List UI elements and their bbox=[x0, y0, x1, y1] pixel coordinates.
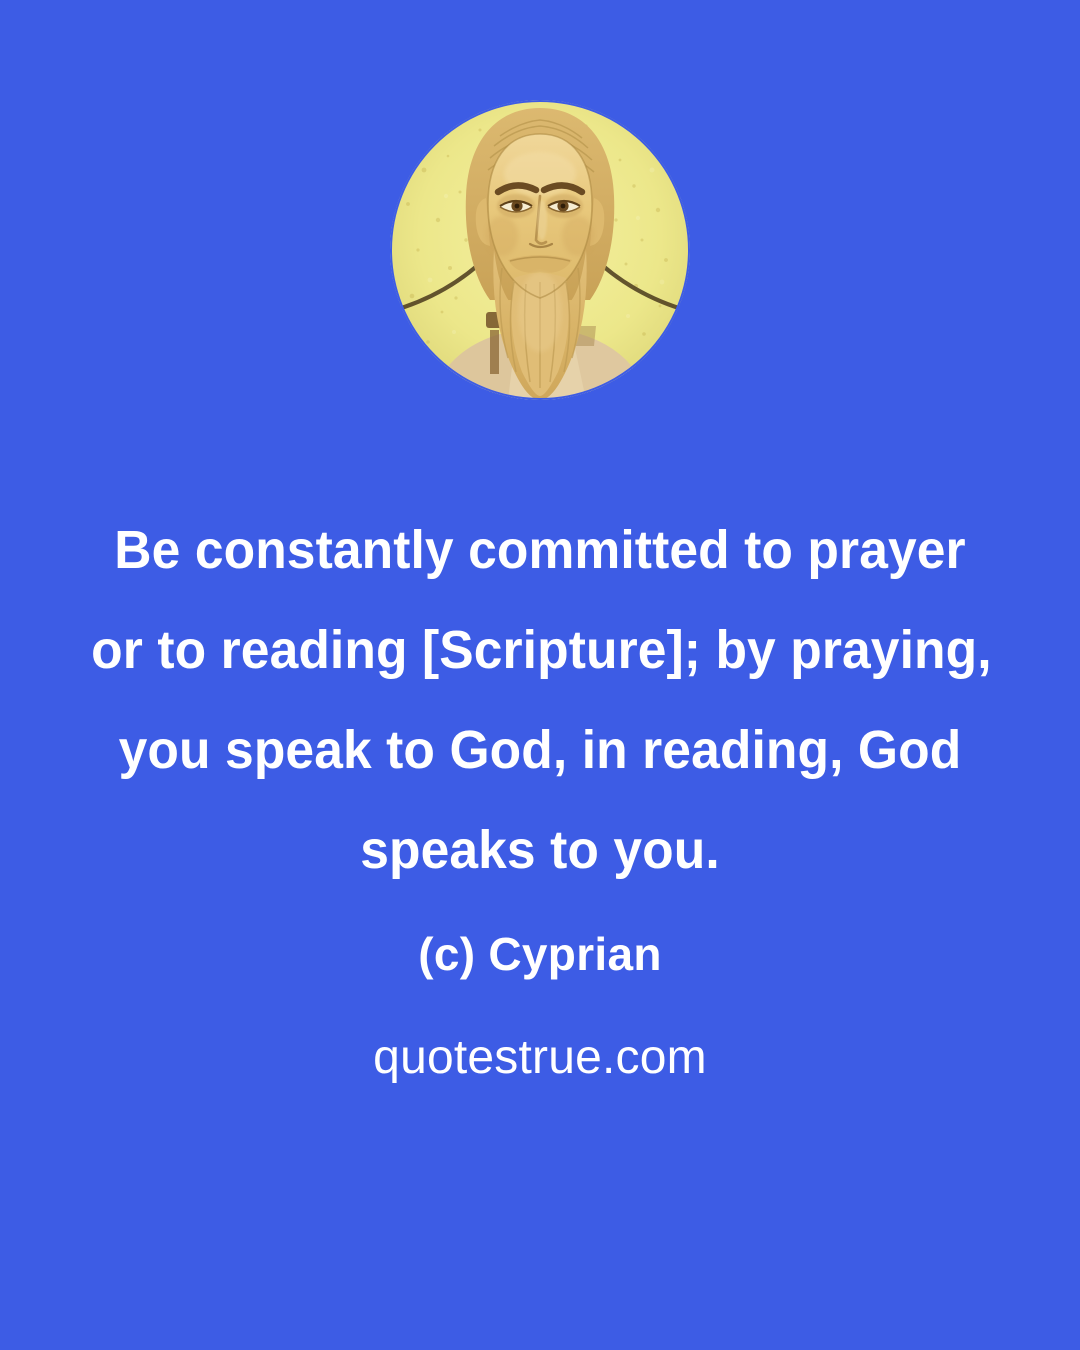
site-watermark: quotestrue.com bbox=[0, 1028, 1080, 1088]
quote-text: Be constantly committed to prayer or to … bbox=[70, 500, 1010, 900]
quote-attribution: (c) Cyprian bbox=[0, 925, 1080, 983]
quote-line-2: or to reading [Scripture]; by praying, bbox=[91, 600, 989, 700]
quote-line-4: speaks to you. bbox=[91, 800, 989, 900]
author-avatar bbox=[390, 100, 690, 400]
saint-portrait-icon bbox=[390, 100, 690, 400]
quote-line-3: you speak to God, in reading, God bbox=[91, 700, 989, 800]
quote-card: Be constantly committed to prayer or to … bbox=[0, 0, 1080, 1350]
quote-line-1: Be constantly committed to prayer bbox=[91, 500, 989, 600]
